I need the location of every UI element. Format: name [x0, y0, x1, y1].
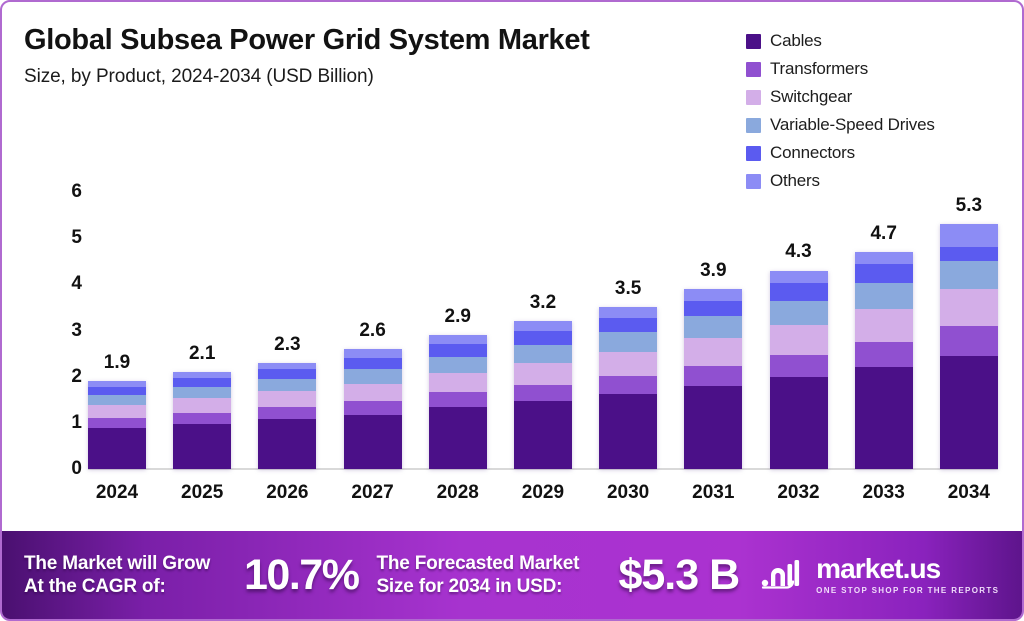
y-axis-tick-label: 4 [71, 273, 82, 295]
legend-swatch-icon [746, 34, 761, 49]
legend-item-switchgear[interactable]: Switchgear [746, 85, 935, 109]
bar-segment-transformers[interactable] [770, 355, 828, 378]
x-axis-tick-label: 2028 [429, 482, 487, 512]
x-axis-tick-label: 2033 [855, 482, 913, 512]
bar-value-label: 2.6 [359, 320, 385, 342]
bar-segment-variable-speed-drives[interactable] [599, 332, 657, 352]
bar-segment-variable-speed-drives[interactable] [684, 316, 742, 338]
bar-segment-switchgear[interactable] [940, 289, 998, 326]
bar-column[interactable]: 2.1 [173, 192, 231, 469]
x-axis-tick-label: 2024 [88, 482, 146, 512]
x-axis-tick-label: 2034 [940, 482, 998, 512]
y-axis-tick-label: 5 [71, 227, 82, 249]
cagr-value: 10.7% [244, 551, 358, 600]
infographic-frame: Global Subsea Power Grid System Market S… [0, 0, 1024, 621]
bar-segment-switchgear[interactable] [429, 373, 487, 392]
bar-segment-transformers[interactable] [684, 366, 742, 386]
x-axis-tick-label: 2029 [514, 482, 572, 512]
bar-value-label: 4.7 [870, 223, 896, 245]
bar-value-label: 4.3 [785, 241, 811, 263]
y-axis-tick-label: 3 [71, 320, 82, 342]
bar-segment-variable-speed-drives[interactable] [770, 301, 828, 325]
bar-column[interactable]: 2.6 [344, 192, 402, 469]
y-axis: 0123456 [42, 180, 82, 480]
bar-segment-transformers[interactable] [940, 326, 998, 356]
chart-subtitle: Size, by Product, 2024-2034 (USD Billion… [24, 66, 590, 88]
forecast-caption: The Forecasted Market Size for 2034 in U… [376, 552, 614, 598]
bar-segment-transformers[interactable] [344, 401, 402, 414]
bar-segment-switchgear[interactable] [88, 405, 146, 418]
bar-segment-switchgear[interactable] [770, 325, 828, 355]
forecast-caption-line2: Size for 2034 in USD: [376, 575, 614, 598]
bar-column[interactable]: 3.5 [599, 192, 657, 469]
bar-value-label: 2.9 [445, 306, 471, 328]
bar-stack[interactable] [258, 363, 316, 469]
bar-stack[interactable] [429, 335, 487, 469]
bar-segment-connectors[interactable] [940, 247, 998, 261]
bar-segment-others[interactable] [940, 224, 998, 247]
legend-item-connectors[interactable]: Connectors [746, 141, 935, 165]
bar-segment-transformers[interactable] [855, 342, 913, 367]
bar-stack[interactable] [684, 289, 742, 469]
x-axis-tick-label: 2030 [599, 482, 657, 512]
bar-segment-variable-speed-drives[interactable] [514, 345, 572, 363]
bar-segment-others[interactable] [514, 321, 572, 331]
y-axis-tick-label: 2 [71, 366, 82, 388]
bar-stack[interactable] [88, 381, 146, 469]
bar-segment-switchgear[interactable] [684, 338, 742, 365]
bar-segment-transformers[interactable] [599, 376, 657, 394]
bar-column[interactable]: 2.9 [429, 192, 487, 469]
bar-segment-connectors[interactable] [599, 318, 657, 332]
bar-segment-switchgear[interactable] [514, 363, 572, 385]
bar-segment-cables[interactable] [599, 394, 657, 469]
bar-segment-cables[interactable] [684, 386, 742, 469]
bar-segment-cables[interactable] [514, 401, 572, 469]
legend-item-variable-speed-drives[interactable]: Variable-Speed Drives [746, 113, 935, 137]
bar-segment-transformers[interactable] [514, 385, 572, 402]
bar-segment-transformers[interactable] [429, 392, 487, 407]
x-axis-tick-label: 2027 [344, 482, 402, 512]
bar-column[interactable]: 1.9 [88, 192, 146, 469]
bar-column[interactable]: 2.3 [258, 192, 316, 469]
bar-column[interactable]: 4.7 [855, 192, 913, 469]
bar-segment-cables[interactable] [258, 419, 316, 469]
y-axis-tick-label: 0 [71, 458, 82, 480]
bar-segment-connectors[interactable] [173, 378, 231, 387]
legend-swatch-icon [746, 146, 761, 161]
cagr-caption-line2: At the CAGR of: [24, 575, 242, 598]
market-us-logo-text: market.us ONE STOP SHOP FOR THE REPORTS [816, 555, 999, 595]
legend-label: Variable-Speed Drives [770, 115, 935, 135]
bar-column[interactable]: 3.9 [684, 192, 742, 469]
x-axis-tick-label: 2032 [770, 482, 828, 512]
bar-segment-cables[interactable] [173, 424, 231, 469]
page-title: Global Subsea Power Grid System Market [24, 24, 590, 57]
legend-swatch-icon [746, 118, 761, 133]
bar-value-label: 5.3 [956, 195, 982, 217]
bar-column[interactable]: 3.2 [514, 192, 572, 469]
bar-segment-switchgear[interactable] [855, 309, 913, 342]
bar-segment-connectors[interactable] [429, 344, 487, 356]
bar-column[interactable]: 4.3 [770, 192, 828, 469]
x-axis-tick-label: 2025 [173, 482, 231, 512]
bar-series-group: 1.92.12.32.62.93.23.53.94.34.75.3 [88, 192, 998, 469]
legend-label: Cables [770, 31, 822, 51]
legend-item-cables[interactable]: Cables [746, 29, 935, 53]
legend-swatch-icon [746, 90, 761, 105]
cagr-caption: The Market will Grow At the CAGR of: [24, 552, 242, 598]
bar-segment-connectors[interactable] [684, 301, 742, 317]
bar-segment-connectors[interactable] [855, 264, 913, 283]
legend-swatch-icon [746, 62, 761, 77]
legend-item-transformers[interactable]: Transformers [746, 57, 935, 81]
bar-segment-variable-speed-drives[interactable] [173, 387, 231, 399]
bar-segment-others[interactable] [429, 335, 487, 344]
bar-stack[interactable] [514, 321, 572, 469]
legend-label: Transformers [770, 59, 868, 79]
chart-header: Global Subsea Power Grid System Market S… [24, 24, 590, 88]
bar-value-label: 2.3 [274, 334, 300, 356]
bar-segment-transformers[interactable] [88, 418, 146, 428]
bar-segment-variable-speed-drives[interactable] [429, 357, 487, 373]
x-axis-tick-label: 2031 [684, 482, 742, 512]
bar-segment-cables[interactable] [855, 367, 913, 469]
bar-segment-switchgear[interactable] [344, 384, 402, 402]
bar-segment-transformers[interactable] [258, 407, 316, 419]
legend-label: Connectors [770, 143, 855, 163]
bar-segment-variable-speed-drives[interactable] [940, 261, 998, 289]
bar-segment-connectors[interactable] [514, 331, 572, 344]
logo-name: market.us [816, 553, 940, 584]
bar-segment-others[interactable] [684, 289, 742, 301]
logo-tagline: ONE STOP SHOP FOR THE REPORTS [816, 586, 999, 595]
forecast-value: $5.3 B [618, 551, 739, 600]
bar-segment-cables[interactable] [770, 377, 828, 469]
bar-segment-cables[interactable] [88, 428, 146, 469]
bar-segment-switchgear[interactable] [599, 352, 657, 376]
bar-segment-variable-speed-drives[interactable] [258, 379, 316, 391]
bar-segment-variable-speed-drives[interactable] [855, 283, 913, 309]
y-axis-tick-label: 1 [71, 412, 82, 434]
bar-stack[interactable] [599, 307, 657, 469]
market-us-logo-icon [761, 556, 807, 595]
bar-value-label: 3.9 [700, 260, 726, 282]
bar-segment-others[interactable] [344, 349, 402, 358]
summary-banner: The Market will Grow At the CAGR of: 10.… [2, 531, 1024, 619]
cagr-caption-line1: The Market will Grow [24, 552, 242, 575]
bar-segment-cables[interactable] [344, 415, 402, 469]
bar-segment-others[interactable] [599, 307, 657, 318]
bar-value-label: 2.1 [189, 343, 215, 365]
forecast-caption-line1: The Forecasted Market [376, 552, 614, 575]
bar-stack[interactable] [770, 271, 828, 469]
bar-segment-others[interactable] [770, 271, 828, 284]
x-axis: 2024202520262027202820292030203120322033… [88, 482, 998, 512]
bar-segment-connectors[interactable] [88, 387, 146, 395]
bar-segment-connectors[interactable] [770, 283, 828, 300]
bar-column[interactable]: 5.3 [940, 192, 998, 469]
bar-stack[interactable] [173, 372, 231, 469]
bar-segment-connectors[interactable] [344, 358, 402, 369]
bar-segment-variable-speed-drives[interactable] [344, 369, 402, 383]
bar-stack[interactable] [940, 224, 998, 469]
bar-value-label: 3.2 [530, 292, 556, 314]
bar-stack[interactable] [344, 349, 402, 469]
bar-segment-transformers[interactable] [173, 413, 231, 424]
bar-segment-cables[interactable] [940, 356, 998, 469]
bar-value-label: 1.9 [104, 352, 130, 374]
chart-legend: CablesTransformersSwitchgearVariable-Spe… [746, 29, 935, 193]
legend-item-others[interactable]: Others [746, 169, 935, 193]
y-axis-tick-label: 6 [71, 181, 82, 203]
legend-swatch-icon [746, 174, 761, 189]
bar-stack[interactable] [855, 252, 913, 469]
bar-segment-variable-speed-drives[interactable] [88, 395, 146, 405]
bar-segment-switchgear[interactable] [173, 398, 231, 412]
bar-segment-connectors[interactable] [258, 369, 316, 379]
legend-label: Switchgear [770, 87, 852, 107]
bar-segment-others[interactable] [855, 252, 913, 264]
bar-segment-cables[interactable] [429, 407, 487, 469]
x-axis-tick-label: 2026 [258, 482, 316, 512]
market-us-logo[interactable]: market.us ONE STOP SHOP FOR THE REPORTS [761, 555, 999, 595]
bar-value-label: 3.5 [615, 278, 641, 300]
bar-segment-switchgear[interactable] [258, 391, 316, 407]
legend-label: Others [770, 171, 820, 191]
